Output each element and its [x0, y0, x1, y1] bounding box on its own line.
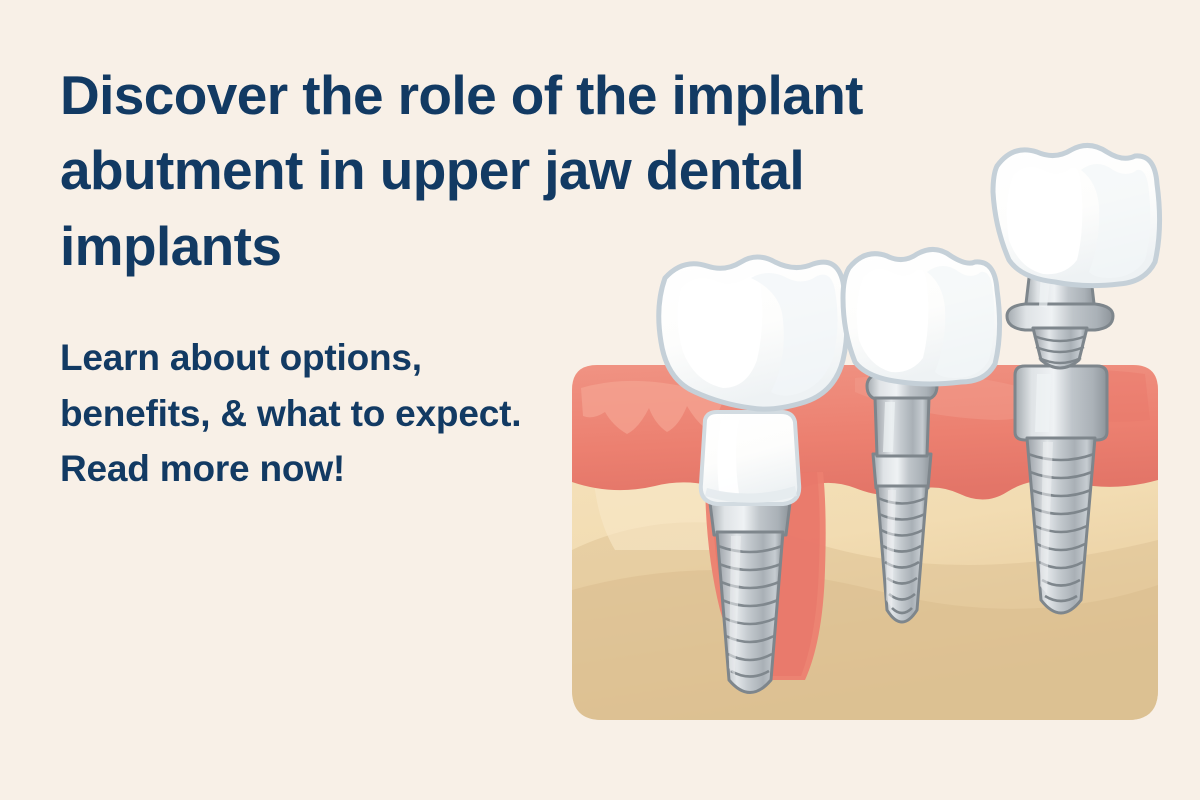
implant-center-screw-neck: [873, 454, 931, 488]
implant-right-abutment-flange: [1007, 304, 1113, 330]
implant-left-crown: [659, 257, 847, 409]
implant-center-crown: [843, 249, 1000, 384]
implant-center-abutment-shine: [883, 402, 895, 452]
implant-right-screw-head: [1015, 366, 1107, 440]
implant-left-screw-body: [717, 532, 783, 693]
implant-left-abutment-shine: [717, 420, 739, 494]
implant-center-abutment-post: [875, 398, 929, 456]
banner: Discover the role of the implant abutmen…: [0, 0, 1200, 800]
implant-right-floating-crown: [993, 145, 1160, 285]
implant-left-screw-head: [710, 503, 790, 535]
implant-right-screw-head-shine: [1035, 374, 1051, 432]
implant-left-abutment: [701, 412, 799, 504]
dental-implant-illustration: [555, 120, 1175, 760]
page-subtitle: Learn about options, benefits, & what to…: [60, 330, 530, 497]
